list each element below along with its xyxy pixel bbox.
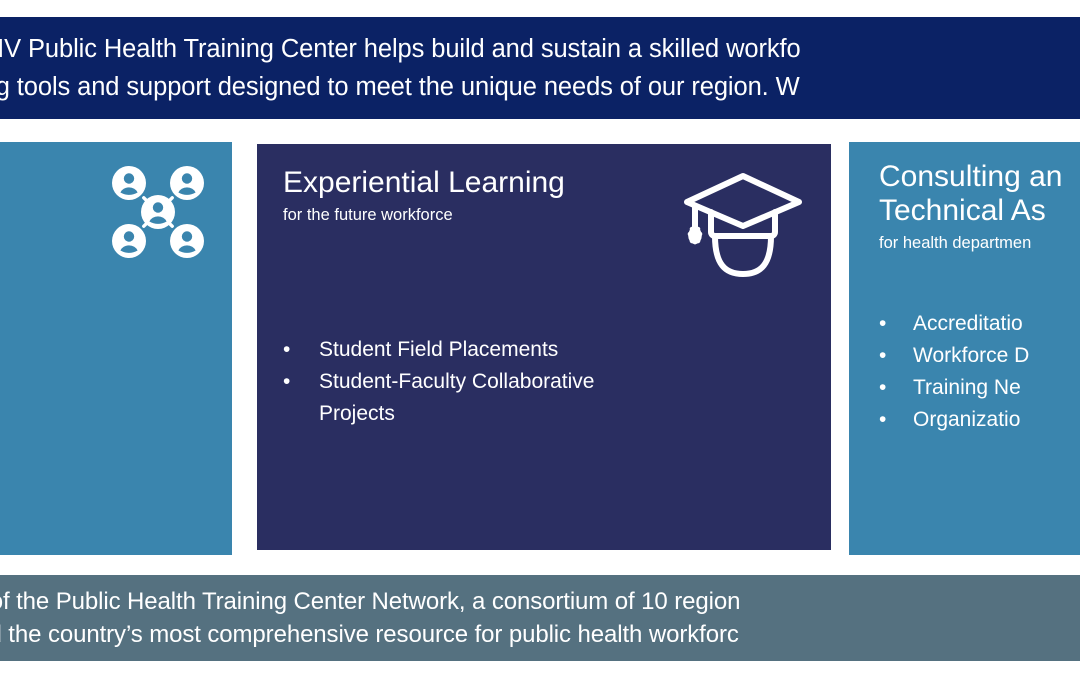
card-consulting-heading: Consulting an Technical As for health de… [879, 160, 1062, 254]
list-item: Skill-based [0, 338, 210, 370]
list-item: • Accreditatio [879, 308, 1080, 340]
card-training-bullet-list: Webinars Skill-based odules mary Care [0, 306, 210, 524]
bullet-marker: • [283, 366, 319, 398]
bullet-text: Organizatio [913, 404, 1080, 436]
card-experiential-header: Experiential Learning for the future wor… [283, 166, 805, 278]
card-row: Webinars Skill-based odules mary Care Ex… [0, 140, 1080, 556]
card-experiential-title: Experiential Learning [283, 166, 565, 200]
bottom-banner-line-1: er of the Public Health Training Center … [0, 585, 1080, 618]
list-item: • Student Field Placements [283, 334, 805, 366]
list-item: mary Care [0, 492, 210, 524]
list-item: • Student-Faculty Collaborative Projects [283, 366, 805, 430]
card-experiential-bullet-list: • Student Field Placements • Student-Fac… [283, 334, 805, 430]
list-item: • Organizatio [879, 404, 1080, 436]
bullet-marker: • [879, 372, 913, 404]
bullet-text: Skill-based [0, 338, 210, 370]
card-consulting-title-line-1: Consulting an [879, 160, 1062, 194]
card-consulting-subtitle: for health departmen [879, 232, 1062, 254]
list-spacer [0, 462, 210, 492]
bullet-text: Workforce D [913, 340, 1080, 372]
card-consulting-header: Consulting an Technical As for health de… [879, 160, 1080, 254]
bullet-text: Student-Faculty Collaborative Projects [319, 366, 805, 430]
top-banner: on IV Public Health Training Center help… [0, 17, 1080, 119]
list-spacer [0, 370, 210, 400]
card-experiential-learning: Experiential Learning for the future wor… [257, 144, 831, 550]
bullet-marker: • [879, 404, 913, 436]
list-item: Webinars [0, 306, 210, 338]
card-experiential-heading: Experiential Learning for the future wor… [283, 166, 565, 226]
card-consulting-technical-assistance: Consulting an Technical As for health de… [849, 142, 1080, 555]
card-consulting-title-line-2: Technical As [879, 194, 1062, 228]
list-spacer [0, 432, 210, 462]
bullet-text: Accreditatio [913, 308, 1080, 340]
bullet-text: mary Care [0, 492, 210, 524]
card-training-header [0, 160, 210, 264]
top-banner-line-1: on IV Public Health Training Center help… [0, 30, 1080, 68]
bullet-marker: • [283, 334, 319, 366]
bullet-text: odules [0, 400, 210, 432]
bullet-text: Student Field Placements [319, 334, 805, 366]
card-consulting-bullet-list: • Accreditatio • Workforce D • Training … [879, 308, 1080, 436]
bullet-marker: • [879, 308, 913, 340]
card-experiential-subtitle: for the future workforce [283, 204, 565, 226]
card-training: Webinars Skill-based odules mary Care [0, 142, 232, 555]
list-item: • Workforce D [879, 340, 1080, 372]
graduation-cap-icon [681, 166, 805, 278]
bullet-text: Webinars [0, 306, 210, 338]
people-network-icon [106, 160, 210, 264]
bottom-banner: er of the Public Health Training Center … [0, 575, 1080, 661]
bullet-marker: • [879, 340, 913, 372]
top-banner-line-2: ning tools and support designed to meet … [0, 68, 1080, 106]
list-item: • Training Ne [879, 372, 1080, 404]
bullet-text: Training Ne [913, 372, 1080, 404]
list-item: odules [0, 400, 210, 432]
bottom-banner-line-2: and the country’s most comprehensive res… [0, 618, 1080, 651]
